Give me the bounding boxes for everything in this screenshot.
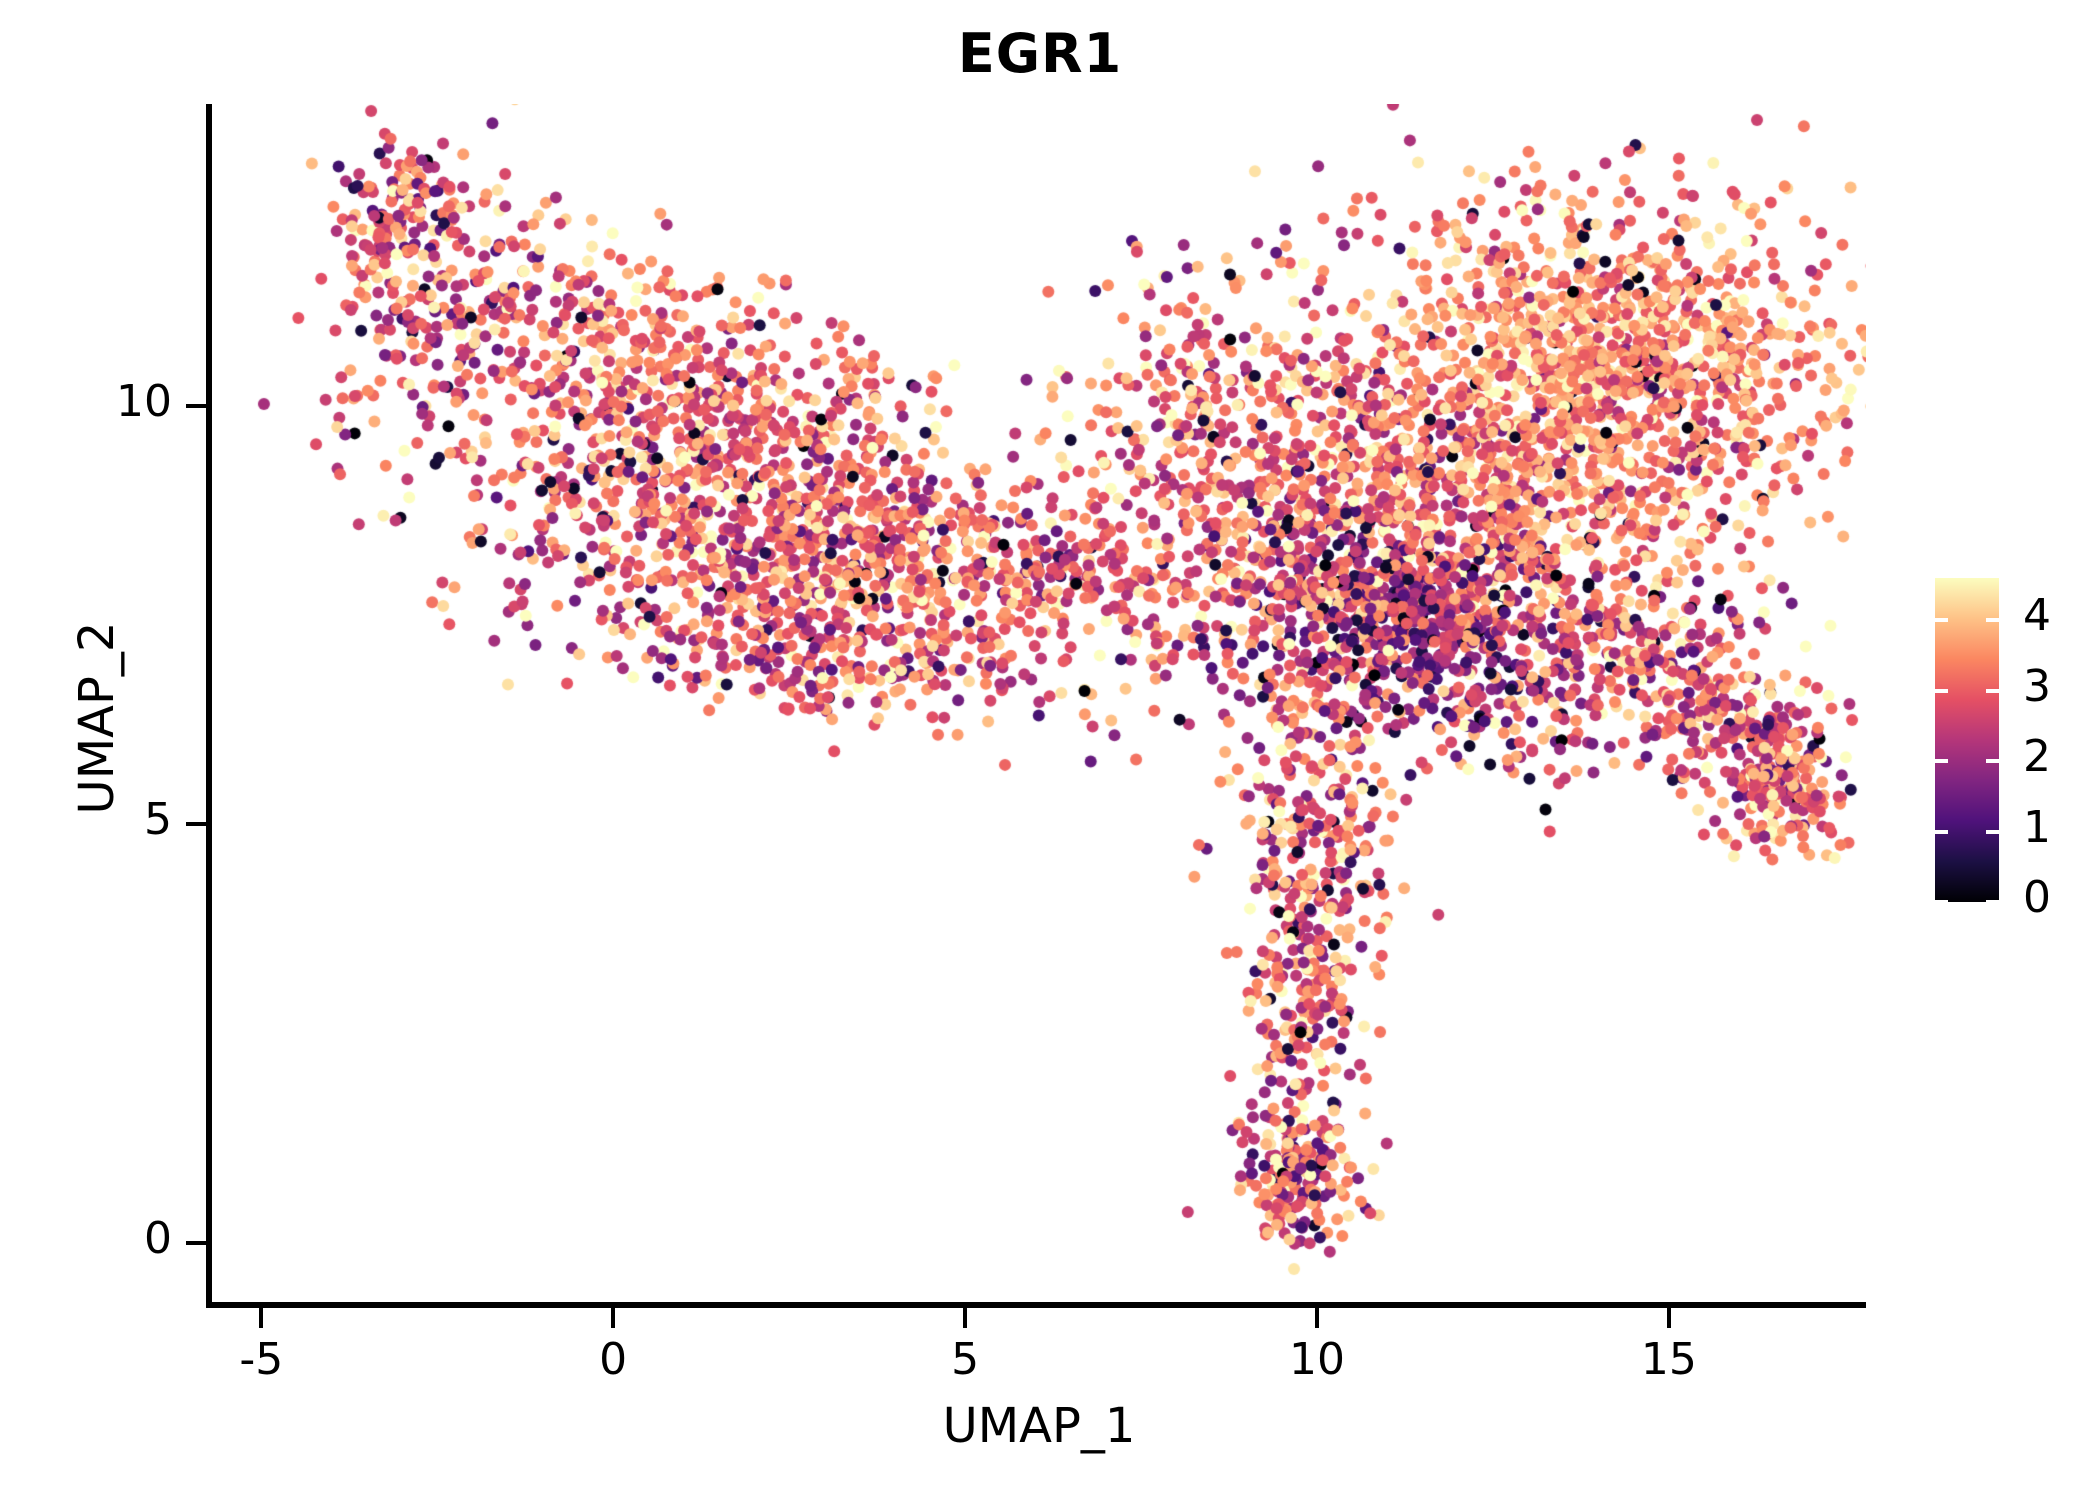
y-tick-label: 0 (52, 1213, 172, 1264)
page-title: EGR1 (0, 22, 2080, 85)
x-tick-label: 0 (533, 1334, 693, 1385)
colorbar-tick-mark (1986, 618, 1999, 622)
x-tick-label: -5 (181, 1334, 341, 1385)
colorbar-tick-mark (1935, 759, 1948, 763)
x-tick-mark (1667, 1308, 1671, 1328)
x-tick-label: 10 (1237, 1334, 1397, 1385)
figure-canvas: EGR1 -5051015 0510 UMAP_1 UMAP_2 01234 (0, 0, 2100, 1500)
x-tick-label: 15 (1589, 1334, 1749, 1385)
y-tick-mark (186, 1241, 206, 1245)
scatter-points-canvas (212, 104, 1866, 1306)
colorbar-tick-label: 1 (2023, 806, 2051, 850)
colorbar-tick-label: 3 (2023, 665, 2051, 709)
colorbar-tick-mark (1935, 900, 1948, 904)
x-axis-spine (206, 1302, 1866, 1308)
x-tick-mark (1315, 1308, 1319, 1328)
colorbar-tick-mark (1986, 759, 1999, 763)
x-axis-label: UMAP_1 (212, 1398, 1866, 1454)
y-tick-mark (186, 404, 206, 408)
colorbar-tick-mark (1935, 618, 1948, 622)
colorbar: 01234 (1935, 578, 2085, 908)
x-tick-mark (259, 1308, 263, 1328)
y-axis-spine (206, 104, 212, 1308)
colorbar-tick-mark (1986, 689, 1999, 693)
colorbar-tick-mark (1986, 900, 1999, 904)
colorbar-gradient (1935, 578, 1999, 902)
colorbar-tick-label: 0 (2023, 876, 2051, 920)
x-tick-mark (963, 1308, 967, 1328)
x-tick-mark (611, 1308, 615, 1328)
y-tick-mark (186, 822, 206, 826)
colorbar-tick-label: 4 (2023, 594, 2051, 638)
colorbar-tick-label: 2 (2023, 735, 2051, 779)
scatter-plot-area (212, 104, 1866, 1306)
y-axis-label: UMAP_2 (69, 368, 125, 1068)
x-tick-label: 5 (885, 1334, 1045, 1385)
colorbar-tick-mark (1935, 689, 1948, 693)
colorbar-tick-mark (1935, 830, 1948, 834)
colorbar-tick-mark (1986, 830, 1999, 834)
